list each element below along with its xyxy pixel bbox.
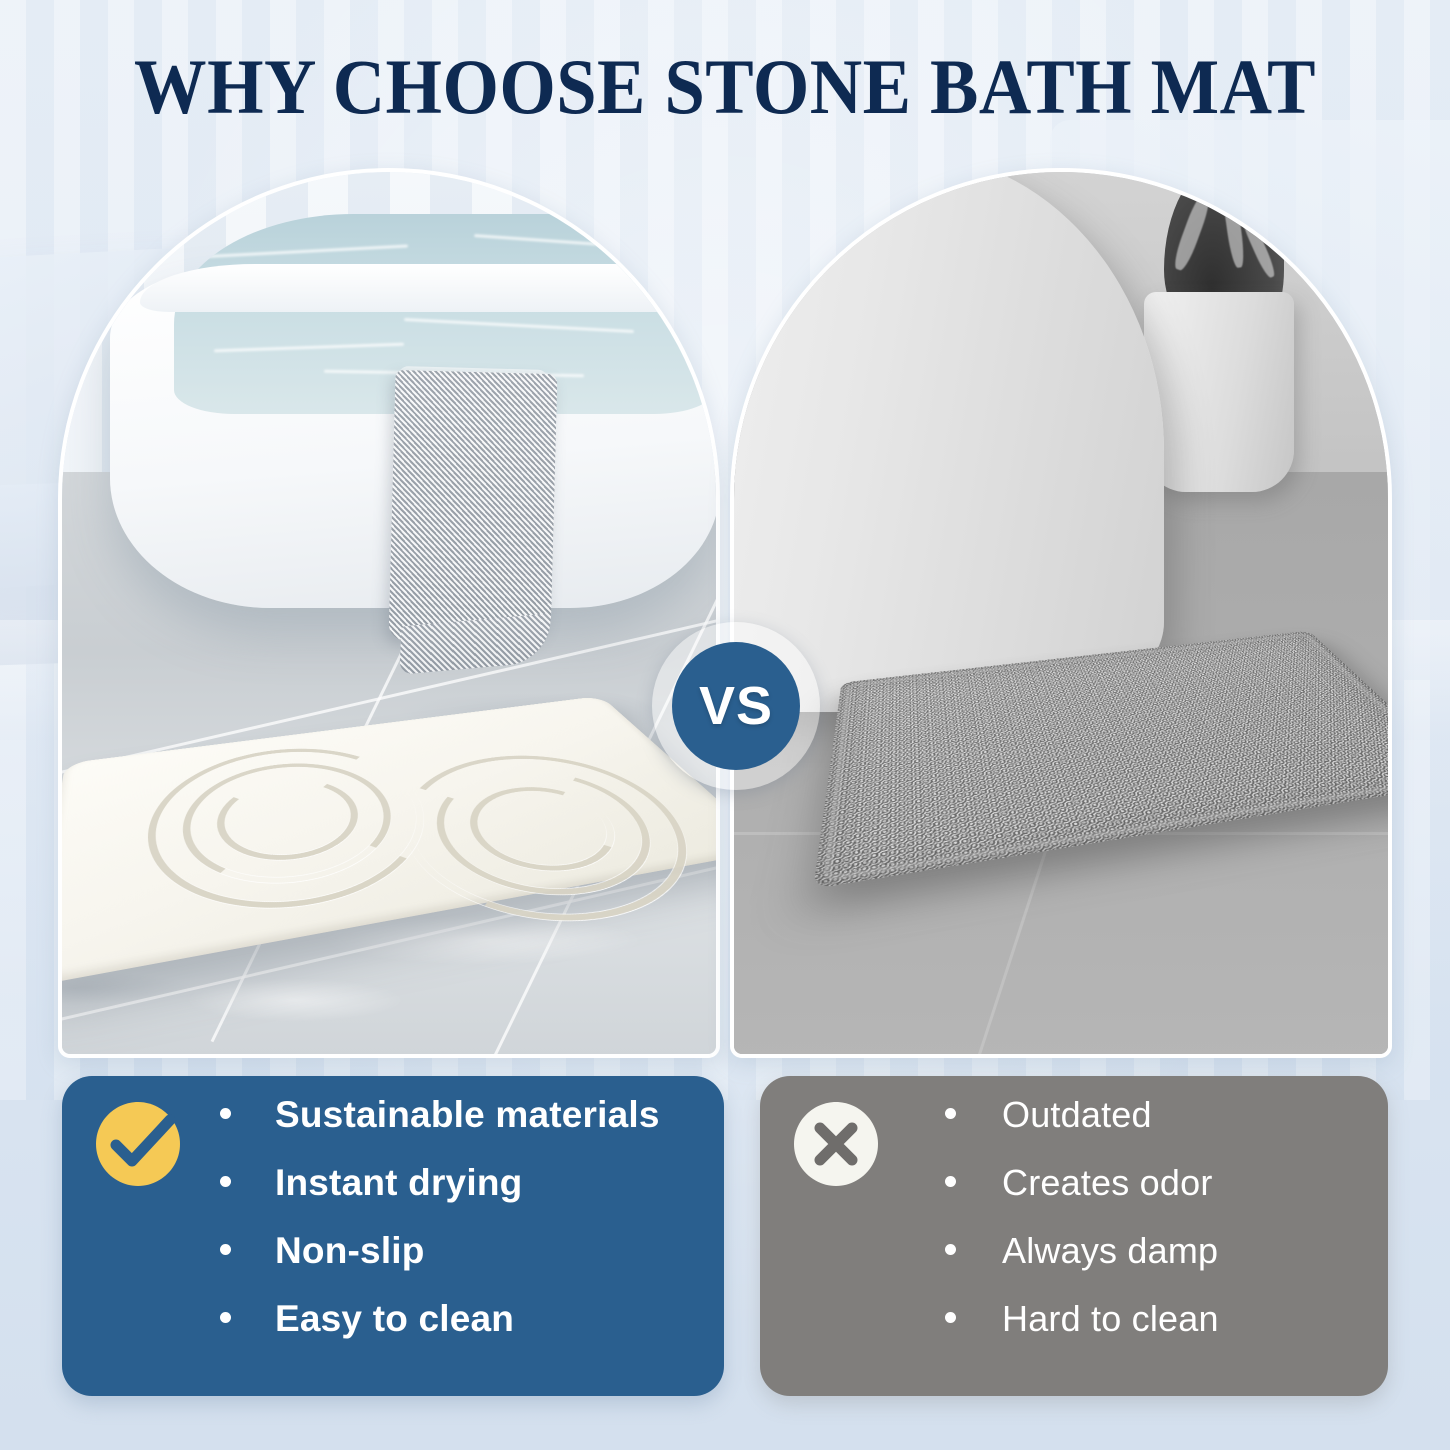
vs-badge: VS (652, 622, 820, 790)
pros-item-label: Sustainable materials (275, 1094, 660, 1136)
page-title: WHY CHOOSE STONE BATH MAT (51, 44, 1400, 130)
right-photo-inner (734, 172, 1388, 1054)
check-circle-icon (92, 1098, 184, 1190)
list-item: Always damp (945, 1230, 1219, 1298)
infographic-canvas: WHY CHOOSE STONE BATH MAT (0, 0, 1450, 1450)
list-item: Non-slip (220, 1230, 660, 1298)
bullet-dot (220, 1108, 231, 1119)
list-item: Outdated (945, 1094, 1219, 1162)
pros-item-label: Non-slip (275, 1230, 425, 1272)
cons-card: Outdated Creates odor Always damp Hard t… (760, 1076, 1388, 1396)
product-photo-stone-mat (58, 168, 720, 1058)
product-photo-fabric-rug (730, 168, 1392, 1058)
cons-item-label: Creates odor (1002, 1162, 1213, 1204)
vs-badge-core: VS (672, 642, 800, 770)
pros-card: Sustainable materials Instant drying Non… (62, 1076, 724, 1396)
cons-list: Outdated Creates odor Always damp Hard t… (945, 1094, 1219, 1366)
plant-pot (1144, 292, 1294, 492)
bullet-dot (945, 1312, 956, 1323)
bullet-dot (945, 1244, 956, 1255)
vs-label: VS (699, 675, 773, 737)
bath-towel (388, 370, 557, 644)
bathtub-rim (140, 264, 700, 312)
x-circle-icon (790, 1098, 882, 1190)
left-photo-inner (62, 172, 716, 1054)
bullet-dot (220, 1176, 231, 1187)
bullet-dot (945, 1176, 956, 1187)
cons-item-label: Hard to clean (1002, 1298, 1219, 1340)
pros-item-label: Easy to clean (275, 1298, 514, 1340)
bullet-dot (220, 1312, 231, 1323)
list-item: Instant drying (220, 1162, 660, 1230)
list-item: Hard to clean (945, 1298, 1219, 1366)
bullet-dot (945, 1108, 956, 1119)
list-item: Sustainable materials (220, 1094, 660, 1162)
bullet-dot (220, 1244, 231, 1255)
cons-item-label: Always damp (1002, 1230, 1218, 1272)
pros-item-label: Instant drying (275, 1162, 522, 1204)
pros-list: Sustainable materials Instant drying Non… (220, 1094, 660, 1366)
list-item: Easy to clean (220, 1298, 660, 1366)
cons-item-label: Outdated (1002, 1094, 1152, 1136)
list-item: Creates odor (945, 1162, 1219, 1230)
